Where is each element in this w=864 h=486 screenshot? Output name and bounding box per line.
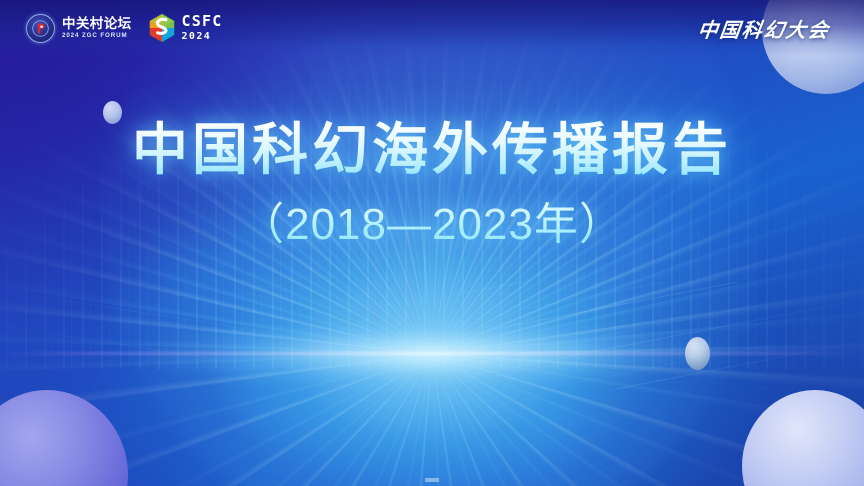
zgc-logo-cn: 中关村论坛 <box>62 17 132 31</box>
presentation-slide: 中关村论坛 2024 ZGC FORUM <box>0 0 864 486</box>
speed-lines-right <box>397 282 864 389</box>
csfc-hex-cube-icon <box>148 13 176 43</box>
speed-lines-left <box>0 292 363 370</box>
sphere-bottom-right-small <box>685 337 710 370</box>
bottom-center-mark <box>425 478 439 482</box>
zgc-logo-text: 中关村论坛 2024 ZGC FORUM <box>62 17 132 40</box>
slide-header: 中关村论坛 2024 ZGC FORUM <box>0 0 864 56</box>
zgc-logo-en: 2024 ZGC FORUM <box>62 33 132 39</box>
csfc-logo: CSFC 2024 <box>148 13 223 43</box>
zgc-forum-logo: 中关村论坛 2024 ZGC FORUM <box>26 14 132 43</box>
csfc-logo-year: 2024 <box>182 32 223 42</box>
zgc-circular-badge-icon <box>26 14 55 43</box>
conference-brand-name: 中国科幻大会 <box>696 14 832 43</box>
csfc-logo-name: CSFC <box>182 14 223 29</box>
sphere-top-left-small <box>103 101 122 124</box>
logo-group: 中关村论坛 2024 ZGC FORUM <box>26 13 222 43</box>
csfc-logo-text: CSFC 2024 <box>182 14 223 42</box>
